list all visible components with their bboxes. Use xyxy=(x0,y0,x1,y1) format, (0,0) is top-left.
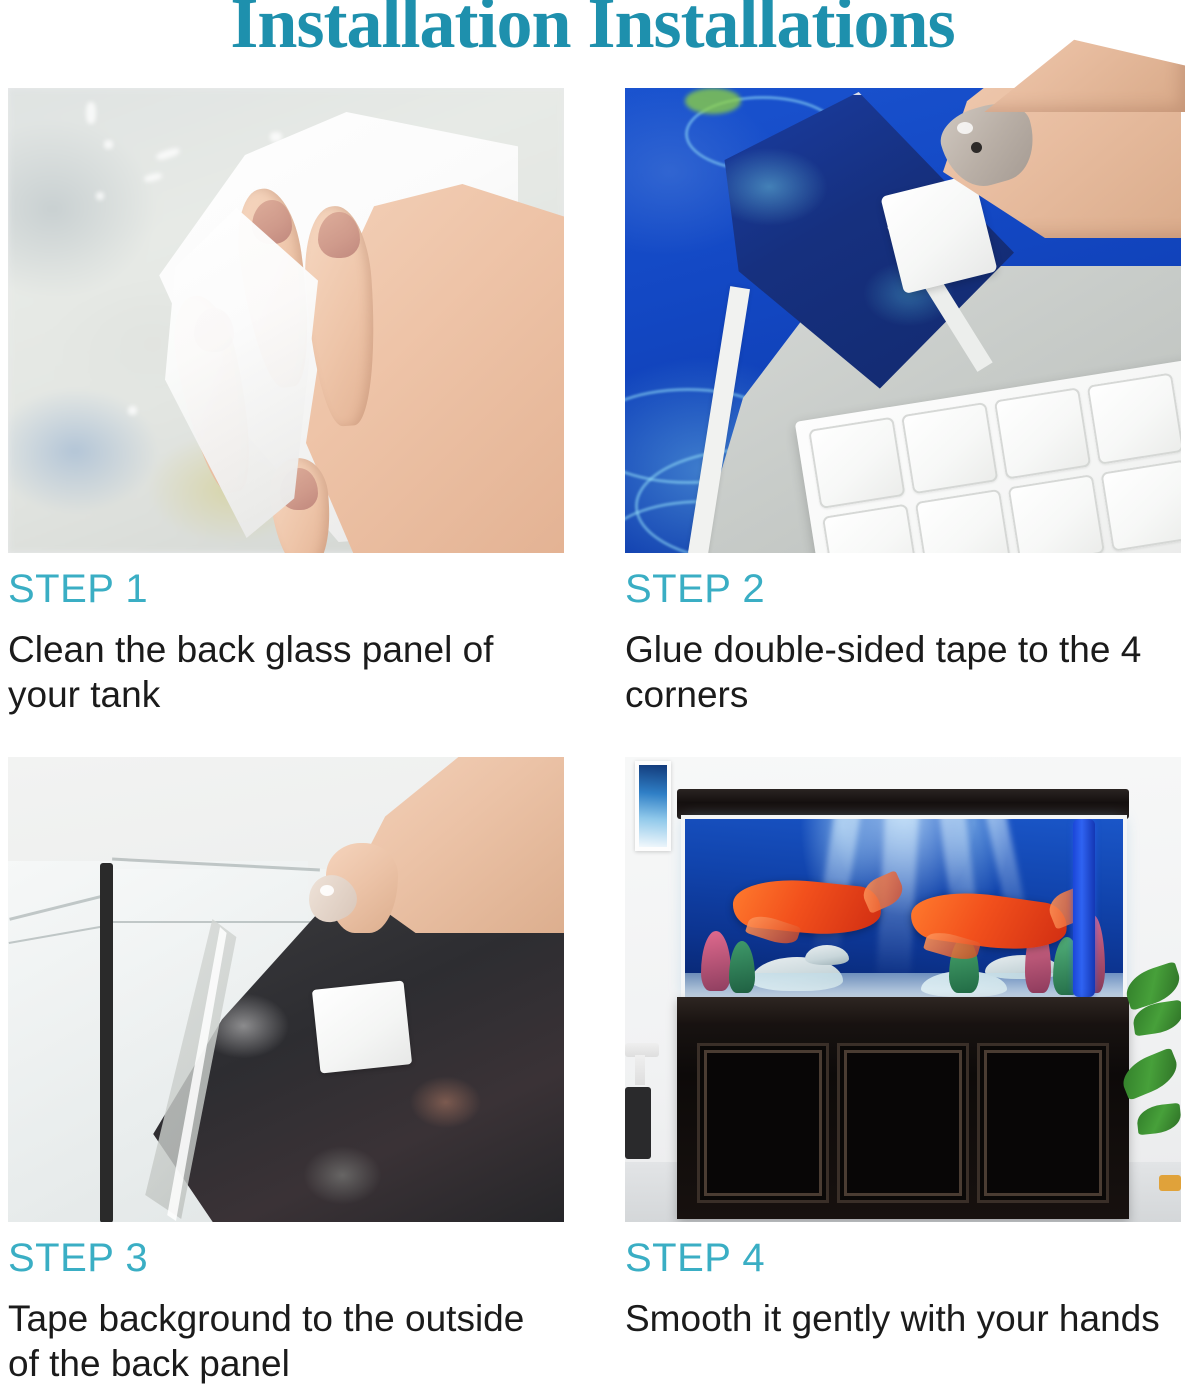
foam-pad xyxy=(901,402,998,494)
step-4-description: Smooth it gently with your hands xyxy=(625,1296,1165,1341)
water-droplet xyxy=(104,140,113,149)
step-2-description: Glue double-sided tape to the 4 corners xyxy=(625,627,1165,717)
cabinet-top xyxy=(677,997,1129,1023)
step-1-description: Clean the back glass panel of your tank xyxy=(8,627,548,717)
foam-pad xyxy=(1100,459,1181,551)
step-2-photo xyxy=(625,88,1181,553)
installation-steps-grid: STEP 1 Clean the back glass panel of you… xyxy=(0,88,1185,1398)
nail-art-dot xyxy=(971,142,982,153)
fingernail xyxy=(318,212,360,258)
side-table-leg xyxy=(635,1055,645,1085)
aquarium-cabinet xyxy=(677,997,1129,1219)
cabinet-door xyxy=(977,1043,1109,1203)
double-sided-tape-square xyxy=(312,980,412,1073)
foam-pad xyxy=(822,503,919,553)
foam-pad xyxy=(915,489,1012,553)
step-1-label: STEP 1 xyxy=(8,569,564,609)
step-1-photo xyxy=(8,88,564,553)
water-droplet xyxy=(96,192,104,200)
foam-pad xyxy=(994,387,1091,479)
floor-accent-object xyxy=(1159,1175,1181,1191)
foam-pad xyxy=(1008,474,1105,553)
step-4-label: STEP 4 xyxy=(625,1238,1181,1278)
water-droplet xyxy=(86,102,96,124)
green-plant-accent xyxy=(685,88,741,114)
cabinet-door xyxy=(697,1043,829,1203)
cabinet-door xyxy=(837,1043,969,1203)
step-3-description: Tape background to the outside of the ba… xyxy=(8,1296,548,1386)
foam-pad xyxy=(808,417,905,509)
step-card-2: STEP 2 Glue double-sided tape to the 4 c… xyxy=(625,88,1181,717)
aquarium-hood xyxy=(677,789,1129,819)
rock xyxy=(805,945,849,965)
wall-picture-frame xyxy=(635,761,671,851)
foam-pad xyxy=(1087,372,1181,464)
water-droplet xyxy=(128,406,137,415)
aquarium-tank xyxy=(685,819,1123,997)
filter-tube xyxy=(1073,819,1095,997)
step-2-label: STEP 2 xyxy=(625,569,1181,609)
nail-glitter-highlight xyxy=(320,885,334,896)
step-4-photo xyxy=(625,757,1181,1222)
step-3-photo xyxy=(8,757,564,1222)
step-2-photo-clip xyxy=(625,88,1181,553)
step-card-3: STEP 3 Tape background to the outside of… xyxy=(8,757,564,1386)
nail-glitter-highlight xyxy=(957,122,973,134)
page-title: Installation Installations xyxy=(0,0,1185,63)
step-card-1: STEP 1 Clean the back glass panel of you… xyxy=(8,88,564,717)
step-card-4: STEP 4 Smooth it gently with your hands xyxy=(625,757,1181,1341)
wall-picture-art xyxy=(639,765,667,847)
dark-object-left xyxy=(625,1087,651,1159)
tank-corner-trim xyxy=(100,863,113,1222)
step-3-label: STEP 3 xyxy=(8,1238,564,1278)
